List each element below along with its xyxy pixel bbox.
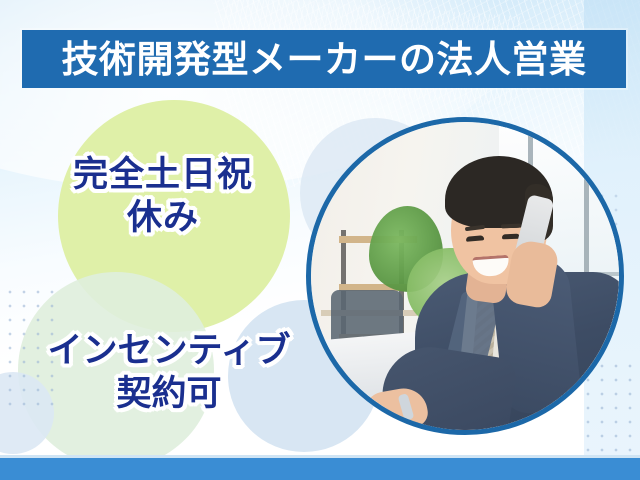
photo-businessman-on-phone bbox=[311, 122, 619, 430]
poster-root: 技術開発型メーカーの法人営業 完全土日祝 休み インセンティブ 契約可 bbox=[0, 0, 640, 480]
highlight-incentive-line2: 契約可 bbox=[16, 373, 322, 416]
highlight-incentive-line1: インセンティブ bbox=[48, 331, 291, 371]
title-banner: 技術開発型メーカーの法人営業 bbox=[22, 30, 626, 88]
bottom-accent-bar bbox=[0, 458, 640, 480]
highlight-incentive: インセンティブ 契約可 bbox=[16, 330, 322, 415]
highlight-holiday-line1: 完全土日祝 bbox=[73, 155, 253, 195]
highlight-holiday-line2: 休み bbox=[32, 197, 294, 240]
highlight-holiday: 完全土日祝 休み bbox=[32, 154, 294, 239]
photo-circle-frame bbox=[306, 117, 624, 435]
page-title: 技術開発型メーカーの法人営業 bbox=[62, 41, 587, 78]
